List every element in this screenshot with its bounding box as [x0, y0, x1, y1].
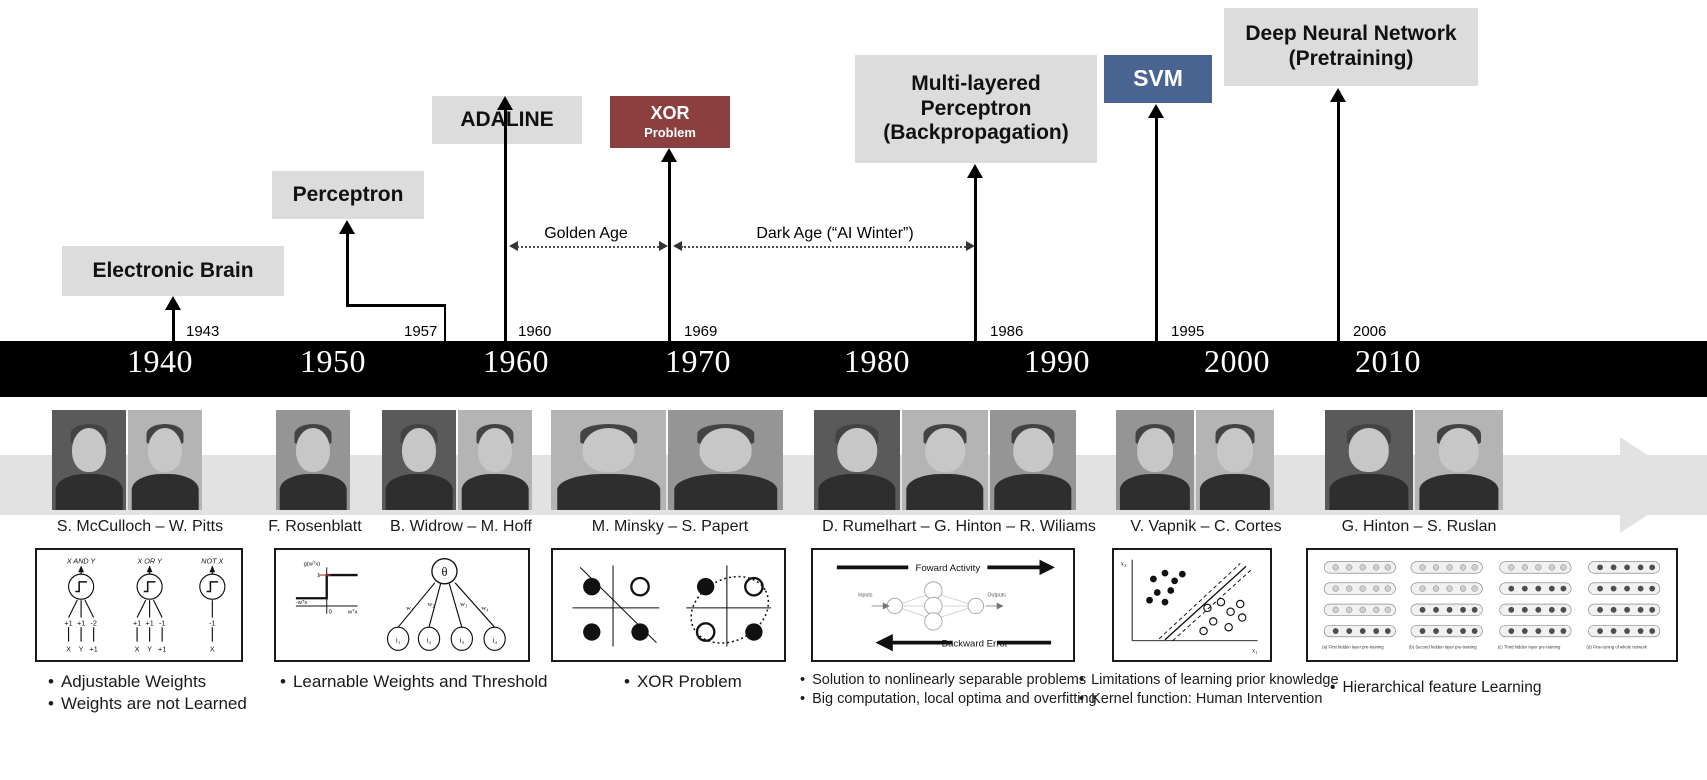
photos-rumelhart-hinton-wiliams [814, 410, 1076, 510]
year-label-1986: 1986 [990, 323, 1023, 340]
w7: -1 [209, 618, 215, 627]
year-label-1957: 1957 [404, 323, 437, 340]
connector-arrowhead-1995 [1148, 104, 1164, 118]
milestone-label-line1: Multi-layered [911, 72, 1041, 97]
era-line-golden-age [517, 246, 659, 248]
connector-line-2006 [1337, 100, 1340, 343]
photos-vapnik-cortes [1116, 410, 1274, 510]
backward-label: Backward Error [942, 638, 1009, 649]
weight-1: w₁ [406, 605, 413, 612]
in6: +1 [158, 644, 166, 653]
svm-xaxis-label: x₁ [1252, 647, 1258, 654]
dbn-caption-a: (a) First hidden layer pre-training [1322, 644, 1384, 649]
gate3-label: NOT X [201, 557, 224, 566]
forward-label: Foward Activity [915, 563, 980, 574]
panel-backpropagation: Foward Activity Backward Error Inpu [811, 548, 1075, 662]
connector-line-1957-riser [346, 232, 349, 306]
gate2-label: X OR Y [136, 557, 163, 566]
progress-band-arrowhead [1620, 437, 1694, 533]
weight-4: w₄ [481, 605, 489, 612]
milestone-electronic-brain[interactable]: Electronic Brain [62, 246, 284, 296]
bullet-item: Solution to nonlinearly separable proble… [800, 671, 1097, 690]
caption-minsky-papert: M. Minsky – S. Papert [572, 518, 768, 536]
milestone-label-line2: (Pretraining) [1289, 47, 1414, 72]
milestone-label-line1: Deep Neural Network [1245, 22, 1456, 47]
xor-point-b [631, 578, 648, 595]
dbn-caption-c: (c) Third hidden layer pre-training [1498, 644, 1561, 649]
svm-yaxis-label: x₂ [1121, 560, 1127, 567]
bullet-item: Adjustable Weights [48, 671, 247, 693]
caption-widrow-hoff: B. Widrow – M. Hoff [378, 518, 544, 536]
portrait-minsky [551, 410, 666, 510]
one: 1 [317, 573, 320, 579]
bullet-item: Hierarchical feature Learning [1330, 678, 1541, 698]
bullets-hinton: Hierarchical feature Learning [1330, 678, 1541, 698]
in4: X [135, 644, 140, 653]
dbn-caption-b: (b) Second hidden layer pre-training [1409, 644, 1477, 649]
era-arrow-right-golden [659, 241, 668, 251]
xor2-point-d [745, 623, 762, 640]
decade-label-2010: 2010 [1308, 343, 1468, 380]
zero: 0 [329, 610, 332, 616]
caption-rosenblatt: F. Rosenblatt [255, 518, 375, 536]
xor-diagram [553, 550, 784, 660]
decade-bar: 1940 1950 1960 1970 1980 1990 2000 2010 [0, 341, 1707, 397]
caption-mcculloch-pitts: S. McCulloch – W. Pitts [40, 518, 240, 536]
milestone-label: Perceptron [293, 183, 404, 208]
timeline-infographic: Electronic Brain Perceptron ADALINE XOR … [0, 0, 1707, 780]
photos-minsky-papert [551, 410, 783, 510]
w1: +1 [64, 618, 72, 627]
in7: X [210, 644, 215, 653]
milestone-label: SVM [1133, 65, 1183, 92]
portrait-widrow [382, 410, 456, 510]
dbn-diagram: (a) First hidden layer pre-training (b) … [1308, 550, 1676, 660]
input-3: i₃ [459, 636, 464, 645]
photos-widrow-hoff [382, 410, 532, 510]
xor-point-c [583, 623, 600, 640]
year-label-1995: 1995 [1171, 323, 1204, 340]
in3: +1 [90, 644, 98, 653]
w5: +1 [145, 618, 153, 627]
portrait-wiliams [990, 410, 1076, 510]
inputs-label: Inputs [858, 592, 873, 598]
weight-3: w₃ [460, 601, 468, 608]
milestone-label: XOR [650, 103, 689, 124]
photos-mcculloch-pitts [52, 410, 202, 510]
perceptron-diagram: g(wᵀx) 1 0 -wᵀx wᵀx θ i₁ [276, 550, 528, 660]
forward-arrowhead [1039, 560, 1054, 575]
portrait-vapnik [1116, 410, 1194, 510]
portrait-papert [668, 410, 783, 510]
backward-arrowhead [875, 634, 892, 651]
input-1: i₁ [396, 636, 401, 645]
bullet-item: Learnable Weights and Threshold [280, 671, 548, 693]
xor-point-a [583, 578, 600, 595]
decade-label-1950: 1950 [253, 343, 413, 380]
portrait-ruslan [1415, 410, 1503, 510]
gate1-label: X AND Y [66, 557, 97, 566]
milestone-svm[interactable]: SVM [1104, 55, 1212, 103]
milestone-label-line2: Perceptron [921, 97, 1032, 122]
theta-label: θ [441, 565, 447, 579]
connector-line-1957-vertical [444, 306, 446, 343]
panel-logic-gates: X AND Y X OR Y NOT X [35, 548, 243, 662]
caption-rumelhart-hinton-wiliams: D. Rumelhart – G. Hinton – R. Wiliams [806, 518, 1112, 536]
portrait-mcculloch [52, 410, 126, 510]
bullet-item: XOR Problem [624, 671, 742, 693]
decade-label-1970: 1970 [618, 343, 778, 380]
xor2-point-a [697, 578, 714, 595]
milestone-sublabel: Problem [644, 125, 696, 140]
weight-2: w₂ [427, 601, 434, 608]
backprop-diagram: Foward Activity Backward Error Inpu [813, 550, 1073, 660]
bullets-rosenblatt: Learnable Weights and Threshold [280, 671, 548, 693]
bullet-item: Kernel function: Human Intervention [1079, 690, 1339, 709]
in5: Y [147, 644, 152, 653]
era-arrow-right-dark [966, 241, 975, 251]
connector-line-1986 [974, 176, 977, 343]
bullets-minsky: XOR Problem [624, 671, 742, 693]
bullets-vapnik: Limitations of learning prior knowledge … [1079, 671, 1339, 709]
panel-svm-plot: x₂ x₁ [1112, 548, 1272, 662]
connector-arrowhead-1969 [661, 148, 677, 162]
dbn-caption-d: (d) Fine-tuning of whole network [1587, 644, 1648, 649]
connector-arrowhead-1957 [339, 220, 355, 234]
decade-label-1990: 1990 [977, 343, 1137, 380]
pos-label: wᵀx [347, 609, 358, 616]
year-label-1969: 1969 [684, 323, 717, 340]
panel-dbn-pretraining: (a) First hidden layer pre-training (b) … [1306, 548, 1678, 662]
year-label-1960: 1960 [518, 323, 551, 340]
era-line-dark-age [681, 246, 966, 248]
connector-line-1943 [172, 308, 175, 343]
input-2: i₂ [427, 636, 432, 645]
panel-xor-plot [551, 548, 786, 662]
bullet-item: Big computation, local optima and overfi… [800, 690, 1097, 709]
in1: X [66, 644, 71, 653]
svm-diagram: x₂ x₁ [1114, 550, 1270, 660]
era-label-dark-age: Dark Age (“AI Winter”) [700, 225, 970, 243]
connector-line-1969 [668, 160, 671, 343]
xor2-point-c [697, 623, 714, 640]
connector-arrowhead-1960 [497, 96, 513, 110]
neg-inf: -wᵀx [296, 599, 308, 606]
portrait-hinton [902, 410, 988, 510]
portrait-hinton-2 [1325, 410, 1413, 510]
w6: -1 [159, 618, 165, 627]
milestone-xor-problem[interactable]: XOR Problem [610, 96, 730, 148]
panel-perceptron-unit: g(wᵀx) 1 0 -wᵀx wᵀx θ i₁ [274, 548, 530, 662]
decade-label-1980: 1980 [797, 343, 957, 380]
portrait-hoff [458, 410, 532, 510]
decade-label-1960: 1960 [436, 343, 596, 380]
input-4: i₄ [492, 636, 497, 645]
w2: +1 [77, 618, 85, 627]
milestone-deep-neural-network[interactable]: Deep Neural Network (Pretraining) [1224, 8, 1478, 86]
connector-arrowhead-2006 [1330, 88, 1346, 102]
bullet-item: Weights are not Learned [48, 693, 247, 715]
decade-label-1940: 1940 [80, 343, 240, 380]
g-label: g(wᵀx) [304, 560, 321, 567]
in2: Y [79, 644, 84, 653]
bullets-mcculloch: Adjustable Weights Weights are not Learn… [48, 671, 247, 716]
portrait-rosenblatt [276, 410, 350, 510]
logic-gates-diagram: X AND Y X OR Y NOT X [37, 550, 241, 660]
xor-point-d [631, 623, 648, 640]
portrait-rumelhart [814, 410, 900, 510]
connector-line-1995 [1155, 116, 1158, 343]
outputs-label: Outputs [987, 592, 1006, 598]
caption-vapnik-cortes: V. Vapnik – C. Cortes [1100, 518, 1312, 536]
era-label-golden-age: Golden Age [505, 225, 667, 243]
bullets-rumelhart: Solution to nonlinearly separable proble… [800, 671, 1097, 709]
year-label-2006: 2006 [1353, 323, 1386, 340]
connector-arrowhead-1943 [165, 296, 181, 310]
photos-rosenblatt [276, 410, 350, 510]
milestone-perceptron[interactable]: Perceptron [272, 171, 424, 219]
milestone-multilayered-perceptron[interactable]: Multi-layered Perceptron (Backpropagatio… [855, 55, 1097, 163]
year-label-1943: 1943 [186, 323, 219, 340]
caption-hinton-ruslan: G. Hinton – S. Ruslan [1318, 518, 1520, 536]
w4: +1 [133, 618, 141, 627]
connector-line-1957-horizontal [346, 304, 446, 307]
connector-arrowhead-1986 [967, 164, 983, 178]
portrait-cortes [1196, 410, 1274, 510]
portrait-pitts [128, 410, 202, 510]
bullet-item: Limitations of learning prior knowledge [1079, 671, 1339, 690]
w3: -2 [90, 618, 96, 627]
milestone-label: Electronic Brain [92, 259, 253, 284]
milestone-label: ADALINE [460, 108, 553, 133]
xor-grouping-ellipse [679, 564, 780, 657]
photos-hinton-ruslan [1325, 410, 1503, 510]
milestone-label-line3: (Backpropagation) [883, 121, 1069, 146]
decade-label-2000: 2000 [1157, 343, 1317, 380]
